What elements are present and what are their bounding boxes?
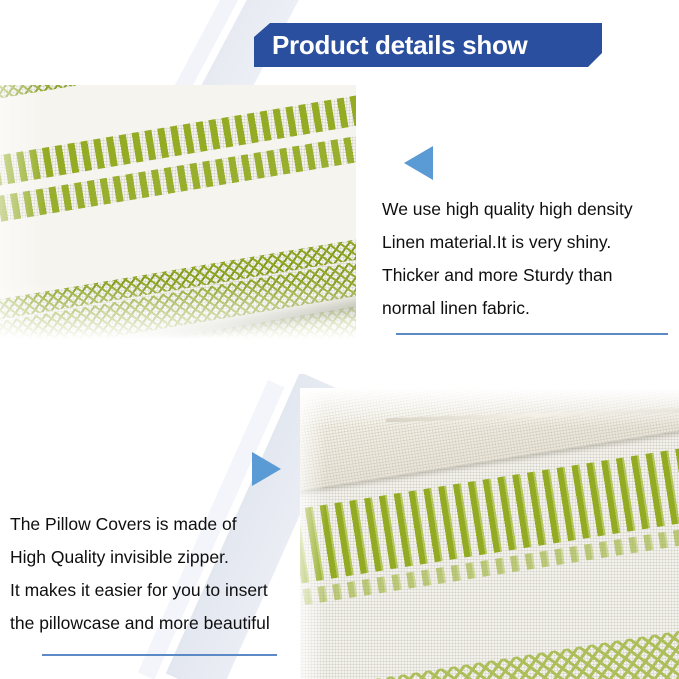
zipper-closeup-photo xyxy=(300,388,679,679)
page-title: Product details show xyxy=(254,30,528,61)
text-line: We use high quality high density xyxy=(382,193,633,226)
triangle-right-icon xyxy=(252,452,281,486)
section-divider-bottom xyxy=(42,654,277,656)
fabric-closeup-photo xyxy=(0,85,356,374)
photo-top-fade xyxy=(300,388,679,428)
text-line: normal linen fabric. xyxy=(382,292,633,325)
photo-bottom-fade xyxy=(0,282,356,374)
text-line: High Quality invisible zipper. xyxy=(10,541,270,574)
photo-edge-highlight xyxy=(300,388,326,679)
triangle-left-icon xyxy=(404,146,433,180)
zipper-description-text: The Pillow Covers is made of High Qualit… xyxy=(10,508,270,640)
fabric-description-text: We use high quality high density Linen m… xyxy=(382,193,633,325)
text-line: Linen material.It is very shiny. xyxy=(382,226,633,259)
text-line: Thicker and more Sturdy than xyxy=(382,259,633,292)
text-line: the pillowcase and more beautiful xyxy=(10,607,270,640)
section-title-banner: Product details show xyxy=(254,23,602,67)
text-line: The Pillow Covers is made of xyxy=(10,508,270,541)
product-details-infographic: Product details show We use high quality… xyxy=(0,0,679,679)
text-line: It makes it easier for you to insert xyxy=(10,574,270,607)
section-divider-top xyxy=(396,333,668,335)
